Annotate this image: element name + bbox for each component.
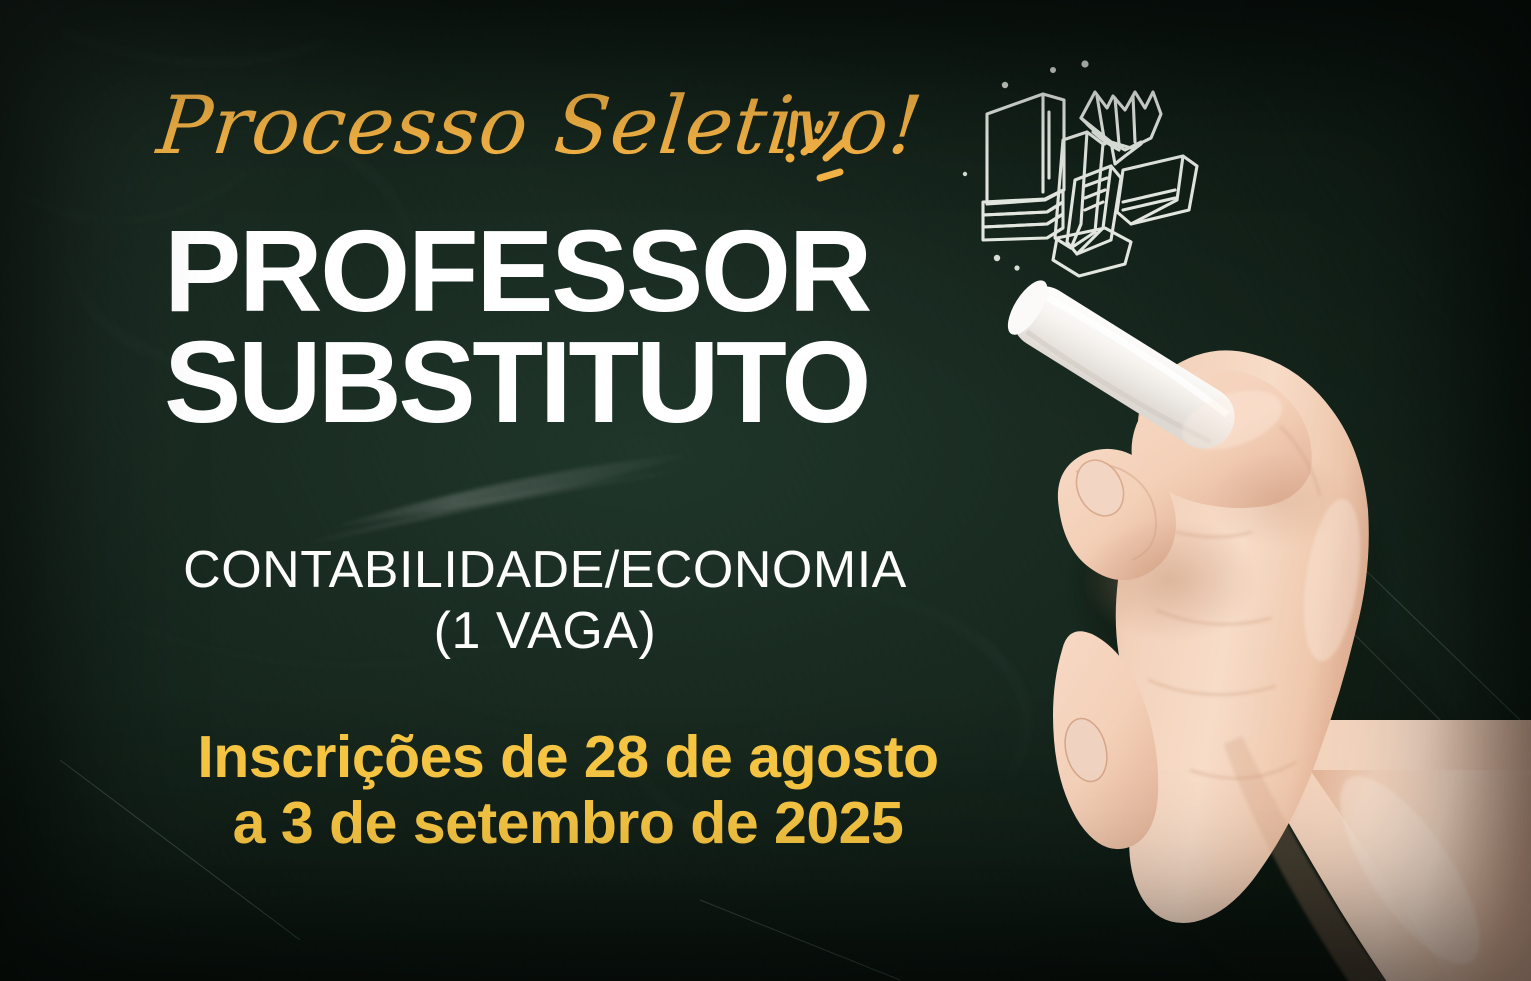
- subtitle-line-1: CONTABILIDADE/ECONOMIA: [0, 540, 1090, 601]
- dates-line-2: a 3 de setembro de 2025: [0, 790, 1136, 856]
- subtitle: CONTABILIDADE/ECONOMIA (1 VAGA): [0, 540, 1090, 662]
- enrollment-dates: Inscrições de 28 de agosto a 3 de setemb…: [0, 724, 1136, 856]
- dates-line-1: Inscrições de 28 de agosto: [0, 724, 1136, 790]
- headline-line-1: PROFESSOR: [164, 216, 994, 327]
- sparkle-exclamation-icon: [782, 106, 862, 196]
- headline: PROFESSOR SUBSTITUTO: [164, 216, 994, 439]
- poster-canvas: Processo Seletivo! PROFESSOR SUBSTITUTO …: [0, 0, 1531, 981]
- headline-line-2: SUBSTITUTO: [164, 327, 994, 438]
- subtitle-line-2: (1 VAGA): [0, 601, 1090, 662]
- poster-text-content: Processo Seletivo! PROFESSOR SUBSTITUTO …: [0, 0, 1000, 981]
